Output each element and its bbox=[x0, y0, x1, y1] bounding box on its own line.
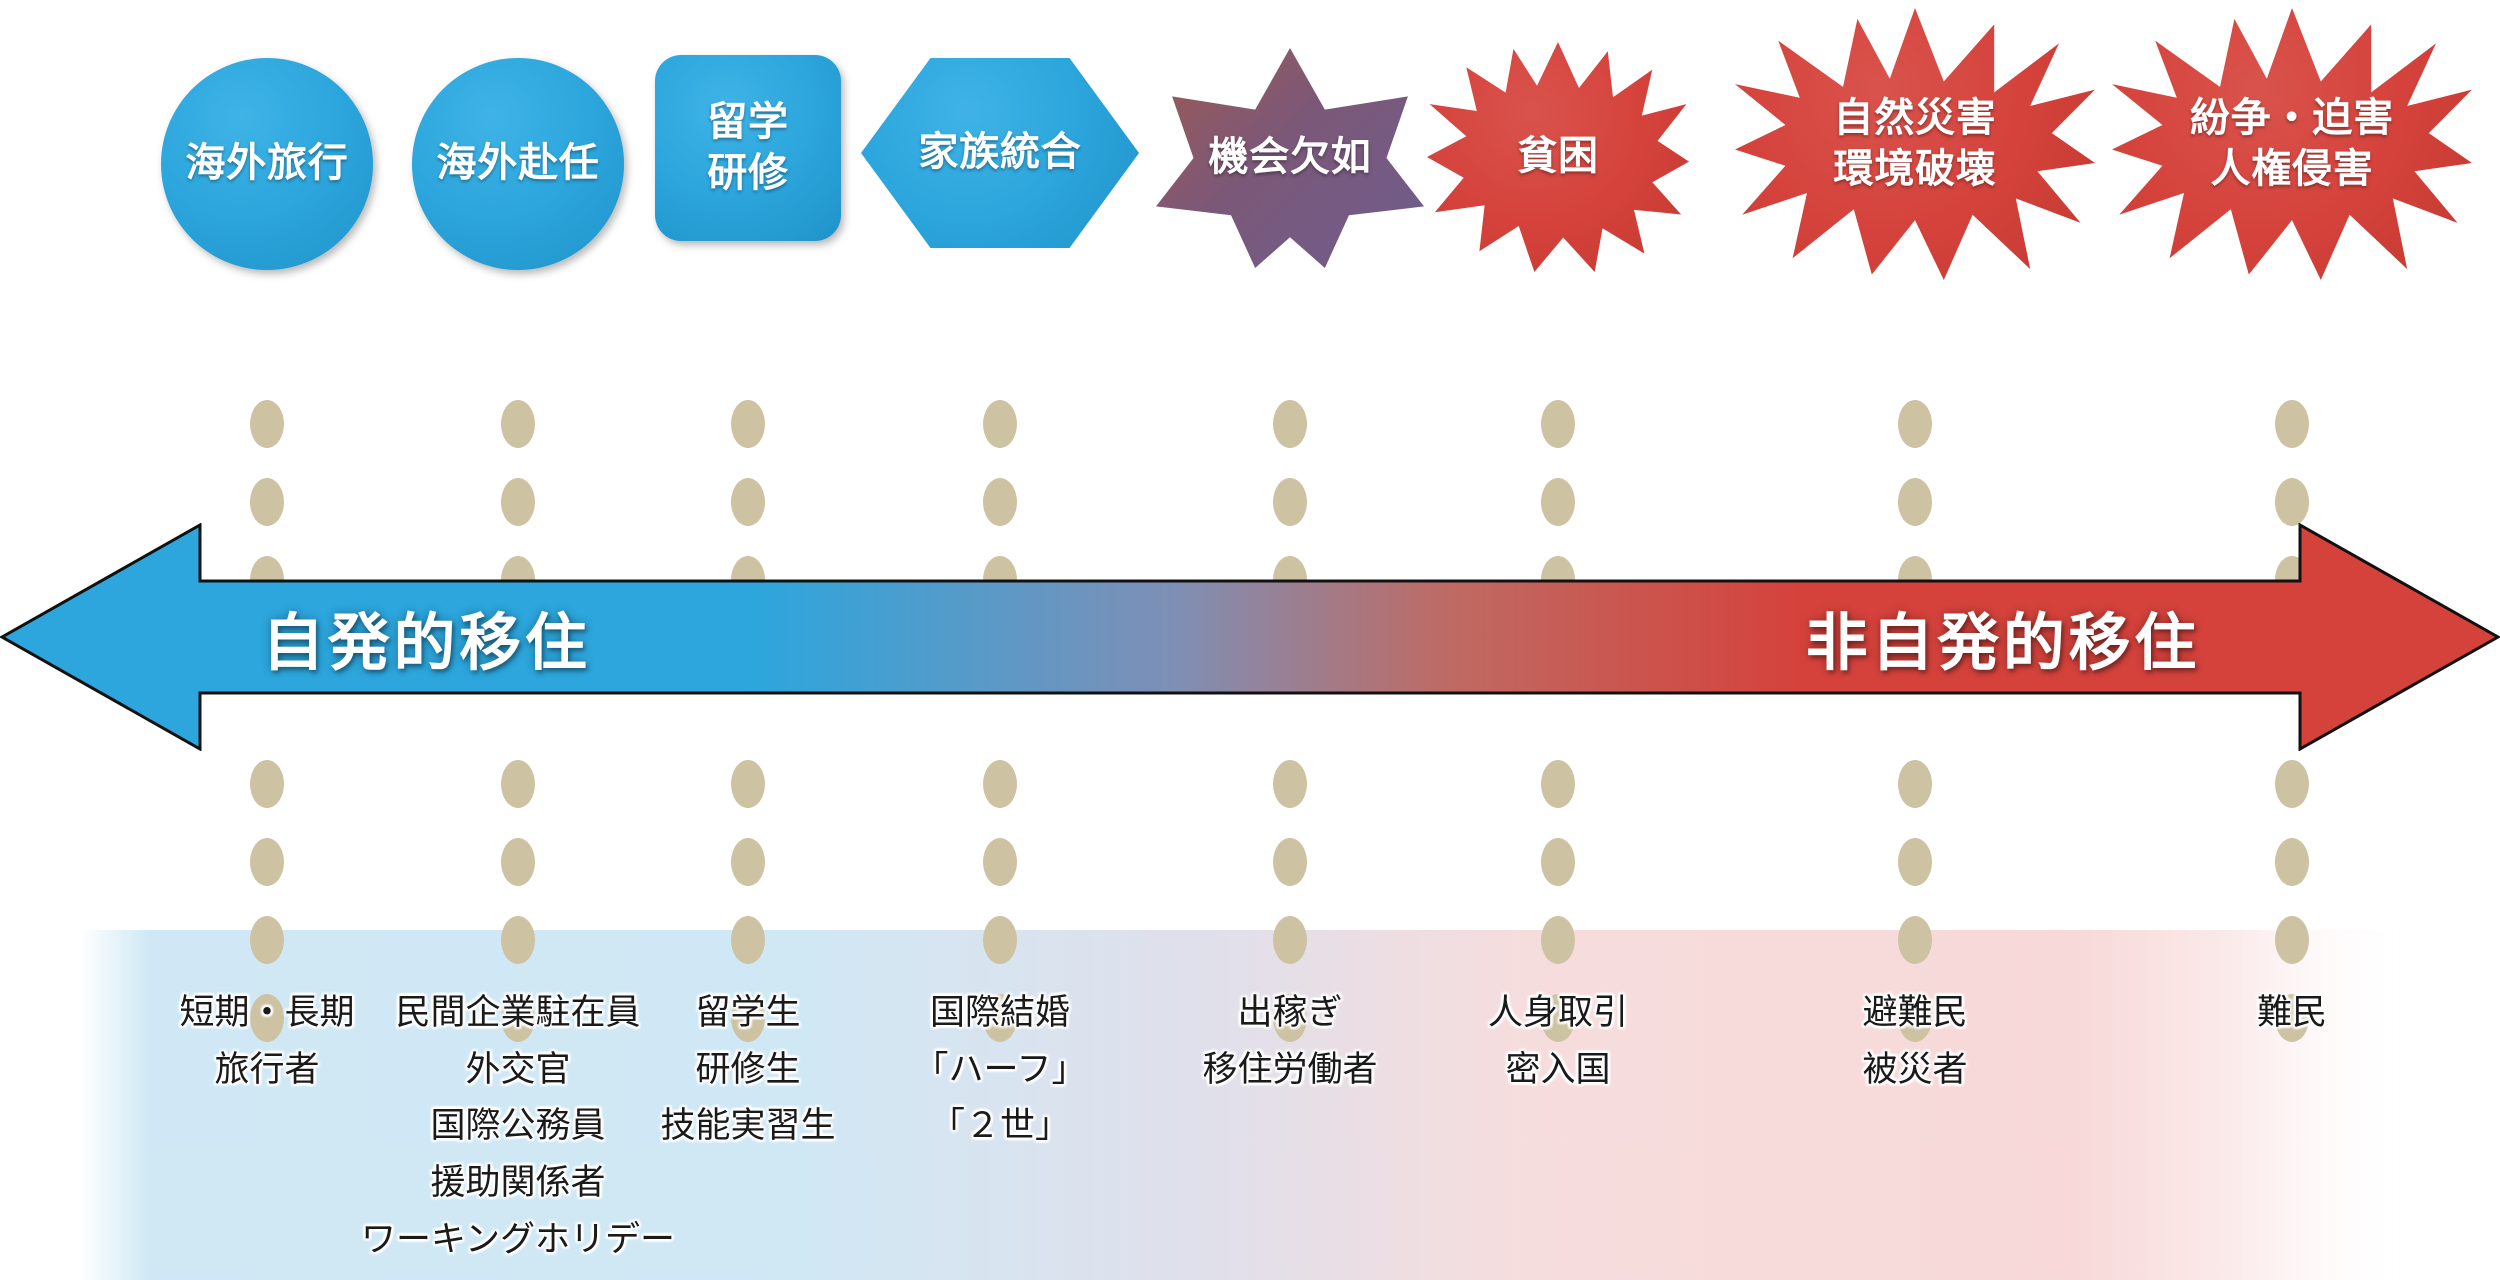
driver-shape-label: 貧困 bbox=[1517, 131, 1599, 182]
driver-shape-label: 海外赴任 bbox=[436, 138, 599, 189]
category-label-line: 旅行者 bbox=[179, 1042, 354, 1099]
connector-dot bbox=[2275, 400, 2309, 448]
connector-dot bbox=[731, 916, 765, 964]
connector-dot bbox=[983, 400, 1017, 448]
connector-dot bbox=[1273, 838, 1307, 886]
connector-dot bbox=[1898, 478, 1932, 526]
category-label-line: ワーキングホリデー bbox=[361, 1212, 675, 1269]
category-label-students: 留学生研修生技能実習生 bbox=[660, 985, 835, 1155]
category-label-line: 国際結婚 bbox=[914, 985, 1087, 1042]
category-label-line: 出稼ぎ bbox=[1202, 985, 1377, 1042]
connector-dot bbox=[731, 760, 765, 808]
driver-shape-label: 留学研修 bbox=[707, 97, 789, 199]
driver-shape-line: 海外旅行 bbox=[185, 138, 348, 189]
driver-shape-conflict: 紛争・迫害人権侵害 bbox=[2112, 8, 2472, 280]
migration-spectrum-arrow: 自発的移住 非自発的移住 bbox=[0, 523, 2500, 751]
category-label-line: 民間企業駐在員 bbox=[361, 985, 675, 1042]
driver-shape-line: 人権侵害 bbox=[2190, 144, 2394, 195]
connector-dot bbox=[250, 760, 284, 808]
connector-dot bbox=[250, 838, 284, 886]
connector-dot bbox=[2275, 760, 2309, 808]
connector-dot bbox=[501, 400, 535, 448]
connector-dot bbox=[1898, 838, 1932, 886]
driver-shape-overseas-posting: 海外赴任 bbox=[412, 58, 624, 270]
connector-dot bbox=[983, 478, 1017, 526]
driver-shape-label: 海外旅行 bbox=[185, 138, 348, 189]
connector-dot bbox=[731, 478, 765, 526]
connector-dot bbox=[1541, 916, 1575, 964]
driver-shape-overseas-travel: 海外旅行 bbox=[161, 58, 373, 270]
driver-shape-line: 研修 bbox=[707, 148, 789, 199]
connector-dot bbox=[731, 400, 765, 448]
connector-dot bbox=[501, 478, 535, 526]
category-label-line: 外交官 bbox=[361, 1042, 675, 1099]
category-label-displaced: 避難民被災者 bbox=[1862, 985, 1967, 1098]
connector-dot bbox=[983, 760, 1017, 808]
category-label-line: 被災者 bbox=[1862, 1042, 1967, 1099]
driver-shape-line: 自然災害 bbox=[1833, 93, 1996, 144]
driver-shape-line: 紛争・迫害 bbox=[2190, 93, 2394, 144]
connector-dot bbox=[1898, 916, 1932, 964]
driver-shape-label: 自然災害環境破壊 bbox=[1833, 93, 1996, 195]
category-label-line: 「ハーフ」 bbox=[914, 1042, 1087, 1099]
category-label-line: 難民 bbox=[2257, 985, 2327, 1042]
connector-dot bbox=[1898, 400, 1932, 448]
driver-shape-family-reunion: 家族統合 bbox=[861, 58, 1139, 248]
category-label-line: 密入国 bbox=[1488, 1042, 1628, 1099]
connector-dot bbox=[501, 838, 535, 886]
connector-dot bbox=[1273, 916, 1307, 964]
connector-dot bbox=[1273, 760, 1307, 808]
connector-dot bbox=[983, 916, 1017, 964]
driver-shape-line: 家族統合 bbox=[918, 127, 1081, 178]
migration-continuum-diagram: 海外旅行海外赴任留学研修家族統合機会欠如貧困自然災害環境破壊紛争・迫害人権侵害 … bbox=[0, 0, 2500, 1280]
driver-shape-line: 貧困 bbox=[1517, 131, 1599, 182]
category-label-line: 援助関係者 bbox=[361, 1155, 675, 1212]
driver-shape-disaster: 自然災害環境破壊 bbox=[1735, 8, 2095, 280]
category-label-line: 人身取引 bbox=[1488, 985, 1628, 1042]
category-label-trafficking: 人身取引密入国 bbox=[1488, 985, 1628, 1098]
connector-dot bbox=[731, 838, 765, 886]
driver-shape-label: 紛争・迫害人権侵害 bbox=[2190, 93, 2394, 195]
connector-dot bbox=[501, 760, 535, 808]
category-label-tourists: 短期・長期旅行者 bbox=[179, 985, 354, 1098]
category-label-intermarriage: 国際結婚「ハーフ」「２世」 bbox=[914, 985, 1087, 1155]
driver-shape-poverty: 貧困 bbox=[1427, 42, 1689, 272]
driver-shape-lack-opportunity: 機会欠如 bbox=[1156, 48, 1424, 268]
connector-dot bbox=[2275, 916, 2309, 964]
category-label-line: 短期・長期 bbox=[179, 985, 354, 1042]
driver-shape-label: 機会欠如 bbox=[1208, 132, 1371, 183]
connector-dot bbox=[250, 916, 284, 964]
driver-shape-line: 環境破壊 bbox=[1833, 144, 1996, 195]
connector-dot bbox=[1273, 478, 1307, 526]
driver-shape-study-abroad: 留学研修 bbox=[655, 55, 841, 241]
connector-dot bbox=[250, 400, 284, 448]
category-label-line: 避難民 bbox=[1862, 985, 1967, 1042]
category-label-expatriates: 民間企業駐在員外交官国際公務員援助関係者ワーキングホリデー bbox=[361, 985, 675, 1268]
connector-dot bbox=[250, 478, 284, 526]
driver-shape-label: 家族統合 bbox=[918, 127, 1081, 178]
connector-dot bbox=[983, 838, 1017, 886]
connector-dot bbox=[1273, 400, 1307, 448]
driver-shape-line: 海外赴任 bbox=[436, 138, 599, 189]
category-label-line: 移住労働者 bbox=[1202, 1042, 1377, 1099]
arrow-label-voluntary: 自発的移住 bbox=[262, 592, 591, 682]
category-label-line: 国際公務員 bbox=[361, 1098, 675, 1155]
category-label-migrant-labor: 出稼ぎ移住労働者 bbox=[1202, 985, 1377, 1098]
connector-dot bbox=[1541, 400, 1575, 448]
category-label-line: 研修生 bbox=[660, 1042, 835, 1099]
category-label-line: 留学生 bbox=[660, 985, 835, 1042]
arrow-label-forced: 非自発的移住 bbox=[1806, 592, 2200, 682]
category-label-line: 技能実習生 bbox=[660, 1098, 835, 1155]
connector-dot bbox=[1541, 838, 1575, 886]
category-label-refugees: 難民 bbox=[2257, 985, 2327, 1042]
category-label-line: 「２世」 bbox=[914, 1098, 1087, 1155]
driver-shape-line: 機会欠如 bbox=[1208, 132, 1371, 183]
connector-dot bbox=[2275, 478, 2309, 526]
connector-dot bbox=[1898, 760, 1932, 808]
driver-shape-line: 留学 bbox=[707, 97, 789, 148]
connector-dot bbox=[1541, 760, 1575, 808]
connector-dot bbox=[2275, 838, 2309, 886]
connector-dot bbox=[501, 916, 535, 964]
connector-dot bbox=[1541, 478, 1575, 526]
